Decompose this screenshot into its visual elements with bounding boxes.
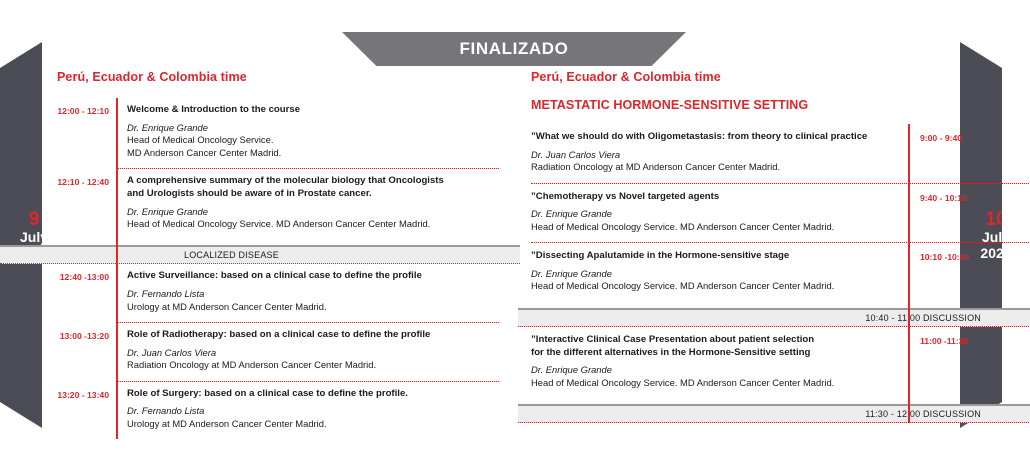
agenda-page: FINALIZADO 9 July 2021 10 July 2021 Perú…	[0, 0, 1030, 450]
session-body: Active Surveillance: based on a clinical…	[116, 270, 507, 313]
agenda-column-day-10: Perú, Ecuador & Colombia time METASTATIC…	[531, 70, 981, 423]
session-affiliation: Radiation Oncology at MD Anderson Cancer…	[127, 359, 507, 371]
session-body: ”Interactive Clinical Case Presentation …	[531, 334, 908, 389]
session-speaker: Dr. Enrique Grande	[531, 207, 900, 220]
discussion-strip: 11:30 - 12:00 DISCUSSION	[518, 404, 1030, 423]
date-tab-year: 2021	[980, 246, 1011, 262]
session-speaker: Dr. Fernando Lista	[127, 404, 507, 417]
session-row[interactable]: 13:20 - 13:40 Role of Surgery: based on …	[57, 382, 507, 440]
session-speaker: Dr. Enrique Grande	[531, 363, 900, 376]
session-title: Active Surveillance: based on a clinical…	[127, 270, 507, 283]
session-row[interactable]: 13:00 -13:20 Role of Radiotherapy: based…	[57, 323, 507, 381]
timezone-header: Perú, Ecuador & Colombia time	[57, 70, 507, 84]
session-row[interactable]: ”Interactive Clinical Case Presentation …	[531, 327, 981, 398]
session-body: Welcome & Introduction to the course Dr.…	[116, 104, 507, 159]
session-affiliation: Head of Medical Oncology Service.	[127, 134, 507, 146]
session-time: 9:00 - 9:40	[908, 131, 962, 143]
session-affiliation: Head of Medical Oncology Service. MD And…	[531, 377, 900, 389]
session-affiliation: Urology at MD Anderson Cancer Center Mad…	[127, 418, 507, 430]
session-title: for the different alternatives in the Ho…	[531, 347, 900, 360]
session-list-day-9: 12:00 - 12:10 Welcome & Introduction to …	[57, 98, 507, 439]
session-speaker: Dr. Enrique Grande	[127, 205, 507, 218]
session-body: ”Dissecting Apalutamide in the Hormone-s…	[531, 250, 908, 293]
session-title: Role of Surgery: based on a clinical cas…	[127, 388, 507, 401]
session-body: Role of Surgery: based on a clinical cas…	[116, 388, 507, 431]
session-body: A comprehensive summary of the molecular…	[116, 175, 507, 230]
session-speaker: Dr. Fernando Lista	[127, 287, 507, 300]
session-body: ”Chemotherapy vs Novel targeted agents D…	[531, 191, 908, 234]
date-tab-day-number: 9	[29, 209, 40, 230]
session-title: ”What we should do with Oligometastasis:…	[531, 131, 900, 144]
section-heading-metastatic: METASTATIC HORMONE-SENSITIVE SETTING	[531, 98, 981, 112]
session-affiliation: MD Anderson Cancer Center Madrid.	[127, 147, 507, 159]
session-affiliation: Head of Medical Oncology Service. MD And…	[531, 280, 900, 292]
session-affiliation: Head of Medical Oncology Service. MD And…	[531, 221, 900, 233]
timezone-header: Perú, Ecuador & Colombia time	[531, 70, 981, 84]
section-strip-localized-disease: LOCALIZED DISEASE	[0, 245, 520, 264]
discussion-strip: 10:40 - 11:00 DISCUSSION	[518, 308, 1030, 327]
session-affiliation: Head of Medical Oncology Service. MD And…	[127, 218, 507, 230]
session-row[interactable]: 12:00 - 12:10 Welcome & Introduction to …	[57, 98, 507, 168]
session-title: Welcome & Introduction to the course	[127, 104, 507, 117]
session-list-day-10: ”What we should do with Oligometastasis:…	[531, 124, 981, 423]
session-row[interactable]: 12:40 -13:00 Active Surveillance: based …	[57, 264, 507, 322]
session-title: and Urologists should be aware of in Pro…	[127, 188, 507, 201]
session-body: Role of Radiotherapy: based on a clinica…	[116, 329, 507, 372]
session-time: 13:00 -13:20	[57, 329, 116, 341]
session-row[interactable]: ”What we should do with Oligometastasis:…	[531, 124, 981, 183]
agenda-column-day-9: Perú, Ecuador & Colombia time 12:00 - 12…	[57, 70, 507, 439]
session-row[interactable]: ”Chemotherapy vs Novel targeted agents D…	[531, 184, 981, 243]
date-tab-day-number: 10	[985, 209, 1006, 230]
session-speaker: Dr. Enrique Grande	[127, 121, 507, 134]
session-time: 12:10 - 12:40	[57, 175, 116, 187]
session-speaker: Dr. Enrique Grande	[531, 267, 900, 280]
session-time: 10:10 -10:40	[908, 250, 969, 262]
status-banner: FINALIZADO	[342, 32, 686, 66]
session-title: ”Chemotherapy vs Novel targeted agents	[531, 191, 900, 204]
session-body: ”What we should do with Oligometastasis:…	[531, 131, 908, 174]
session-row[interactable]: 12:10 - 12:40 A comprehensive summary of…	[57, 169, 507, 239]
session-title: Role of Radiotherapy: based on a clinica…	[127, 329, 507, 342]
session-title: ”Interactive Clinical Case Presentation …	[531, 334, 900, 347]
session-speaker: Dr. Juan Carlos Viera	[531, 148, 900, 161]
session-time: 12:40 -13:00	[57, 270, 116, 282]
session-time: 13:20 - 13:40	[57, 388, 116, 400]
session-title: A comprehensive summary of the molecular…	[127, 175, 507, 188]
date-tab-month: July	[20, 230, 48, 246]
session-speaker: Dr. Juan Carlos Viera	[127, 346, 507, 359]
session-affiliation: Radiation Oncology at MD Anderson Cancer…	[531, 161, 900, 173]
session-affiliation: Urology at MD Anderson Cancer Center Mad…	[127, 301, 507, 313]
session-title: ”Dissecting Apalutamide in the Hormone-s…	[531, 250, 900, 263]
date-tab-month: July	[982, 230, 1010, 246]
session-time: 12:00 - 12:10	[57, 104, 116, 116]
session-time: 9:40 - 10:10	[908, 191, 967, 203]
session-row[interactable]: ”Dissecting Apalutamide in the Hormone-s…	[531, 243, 981, 302]
session-time: 11:00 -11:30	[908, 334, 968, 346]
